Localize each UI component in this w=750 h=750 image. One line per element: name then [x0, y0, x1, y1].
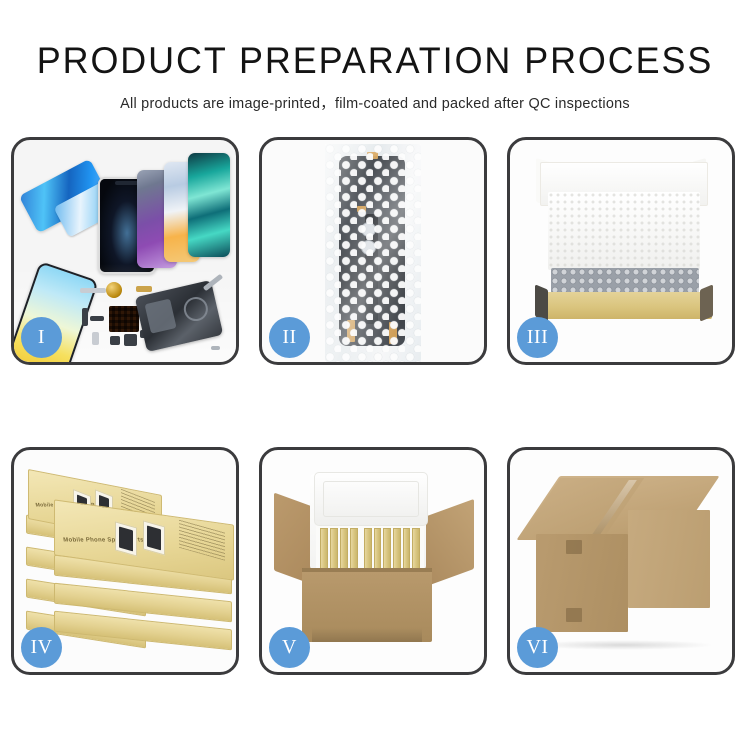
kraft-box-slab: [350, 528, 358, 570]
product-preparation-process-infographic: PRODUCT PREPARATION PROCESS All products…: [0, 0, 750, 750]
vibration-motor-part: [106, 282, 122, 298]
page-subtitle: All products are image-printed，film-coat…: [4, 79, 747, 113]
foam-sheet: [548, 192, 700, 270]
step-badge-4: IV: [21, 627, 62, 668]
carton-shadow: [532, 640, 714, 650]
foam-cavity: [316, 524, 424, 572]
step-panel-4: Mobile Phone Spare Parts Mobile Phone Sp…: [11, 447, 239, 675]
step-badge-2: II: [269, 317, 310, 358]
step-panel-2: II: [259, 137, 487, 365]
box-label-phone-image: [143, 520, 165, 555]
bubble-wrapped-items-row: [551, 268, 699, 295]
kraft-box-slab: [403, 528, 411, 570]
screw-loose: [211, 346, 220, 350]
carton-tape-upper: [566, 540, 582, 554]
kraft-box-slab: [364, 528, 372, 570]
bubble-wrap-bag: [325, 144, 421, 362]
step-panel-3: III: [507, 137, 735, 365]
kraft-box-slab: [383, 528, 391, 570]
kraft-box-slab: [412, 528, 420, 570]
spare-part-flex-gold: [136, 286, 152, 292]
carton-tape-lower: [566, 608, 582, 622]
step-badge-3: III: [517, 317, 558, 358]
carton-front-face: [536, 534, 628, 632]
step-badge-5: V: [269, 627, 310, 668]
header: PRODUCT PREPARATION PROCESS All products…: [0, 0, 750, 113]
kraft-box-slab: [374, 528, 382, 570]
spare-part-strip: [80, 288, 106, 293]
spare-part-cable-1: [82, 308, 88, 326]
box-label-phone-image: [115, 521, 137, 556]
spare-part-small-3: [110, 336, 120, 345]
kraft-box-group-left: [320, 528, 358, 568]
step-badge-1: I: [21, 317, 62, 358]
box-label-specs-lines: [179, 520, 225, 561]
foam-box-lid: [314, 472, 428, 526]
spare-part-speaker: [124, 334, 137, 346]
screw-grid-tray: [109, 306, 139, 332]
bag-reflection: [325, 144, 421, 362]
kraft-box-tray: [536, 292, 712, 319]
kraft-box-slab: [393, 528, 401, 570]
spare-part-small-2: [90, 316, 104, 321]
phone-notch: [115, 181, 139, 185]
carton-body: [302, 568, 432, 642]
spare-part-sim-tray: [92, 332, 99, 345]
kraft-box-slab: [320, 528, 328, 570]
page-title: PRODUCT PREPARATION PROCESS: [11, 0, 739, 79]
kraft-box-slab: [330, 528, 338, 570]
step-panel-1: I: [11, 137, 239, 365]
steps-grid: I II: [11, 137, 739, 675]
kraft-box-slab: [340, 528, 348, 570]
carton-side-face: [628, 510, 710, 608]
step-panel-6: VI: [507, 447, 735, 675]
step-badge-6: VI: [517, 627, 558, 668]
kraft-box-group-right: [364, 528, 420, 568]
phone-teal: [188, 153, 230, 257]
step-panel-5: V: [259, 447, 487, 675]
